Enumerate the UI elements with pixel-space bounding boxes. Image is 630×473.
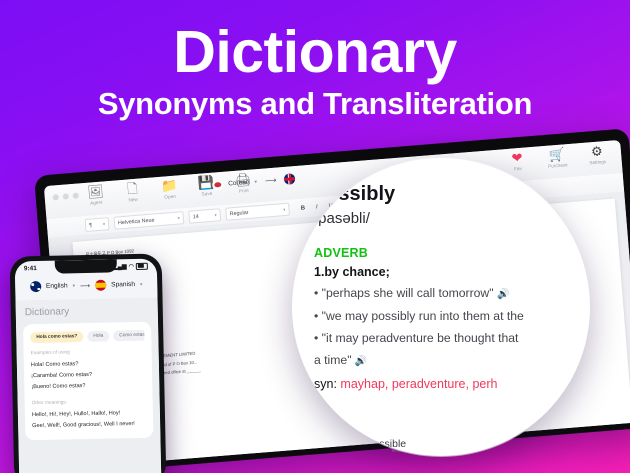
paragraph-icon: ¶ <box>89 222 92 228</box>
toolbar-right-actions: ❤ Fav 🛒 Purchase ⚙ Settings <box>503 144 612 173</box>
wifi-icon: ◠ <box>129 263 134 270</box>
toolbar-label-settings: Settings <box>584 159 612 166</box>
phone-notch <box>55 259 117 273</box>
lens-example-3: "it may peradventure be thought that <box>322 331 519 345</box>
bold-button[interactable]: B <box>298 205 307 212</box>
gear-icon: ⚙ <box>582 144 611 160</box>
bullet-icon-2: • <box>314 309 318 323</box>
lens-synonyms-row: syn: mayhap, peradventure, perh <box>314 377 570 391</box>
page-title: Dictionary <box>0 0 630 82</box>
paragraph-style-select[interactable]: ¶ ▾ <box>85 217 110 232</box>
toolbar-button-purchase[interactable]: 🛒 Purchase <box>542 147 572 169</box>
lens-example-row-3-cont: a time" 🔊 <box>314 352 570 369</box>
chevron-down-icon: ▾ <box>214 212 217 218</box>
chevron-down-icon: ▾ <box>103 221 106 227</box>
font-weight-value: Regular <box>229 209 248 216</box>
hero-header: Dictionary Synonyms and Transliteration <box>0 0 630 121</box>
lens-example-row-2: • "we may possibly run into them at the <box>314 308 570 324</box>
toolbar-label-new: New <box>120 196 146 203</box>
toolbar-label-purchase: Purchase <box>544 162 572 169</box>
toolbar-label-open: Open <box>157 193 183 200</box>
lens-tail-text: degree possible <box>332 438 406 450</box>
phone-screen: 9:41 ▂▄▆ ◠ English ▾ ⟶ Spanish ▾ Diction… <box>15 259 162 473</box>
australia-flag-icon <box>30 281 41 292</box>
lens-example-1: "perhaps she will call tomorrow" <box>322 286 494 300</box>
agent-icon: 🖼 <box>82 184 109 200</box>
lens-example-row-3: • "it may peradventure be thought that <box>314 330 570 346</box>
chevron-down-icon: ▾ <box>177 215 180 221</box>
window-controls[interactable] <box>53 192 79 200</box>
phone-page-title: Dictionary <box>23 298 151 325</box>
toolbar-label-favorite: Fav <box>504 165 532 172</box>
minimize-dot[interactable] <box>63 193 69 199</box>
chip-item-1[interactable]: Hola <box>87 331 109 342</box>
lens-definition: 1.by chance; <box>314 265 570 279</box>
toolbar-label-save: Save <box>194 190 220 197</box>
favorite-icon: ❤ <box>503 150 532 166</box>
status-time: 9:41 <box>24 265 37 272</box>
korea-flag-icon <box>212 179 224 191</box>
chevron-down-icon: ▾ <box>283 206 286 212</box>
speaker-icon-2[interactable]: 🔊 <box>355 356 367 367</box>
phone-result-card: Hola como estas? Hola Como estas Est Exa… <box>23 322 153 440</box>
toolbar-label-agent: Agent <box>83 199 109 206</box>
toolbar-button-favorite[interactable]: ❤ Fav <box>503 150 533 172</box>
lens-example-2: "we may possibly run into them at the <box>322 309 524 323</box>
chevron-down-icon[interactable]: ▾ <box>73 283 76 289</box>
chevron-down-icon-2[interactable]: ▾ <box>140 281 143 287</box>
bullet-icon-3: • <box>314 331 318 345</box>
lens-example-row-1: • "perhaps she will call tomorrow" 🔊 <box>314 285 570 302</box>
toolbar-button-agent[interactable]: 🖼 Agent <box>82 184 110 206</box>
phone-content: Dictionary Hola como estas? Hola Como es… <box>16 298 162 473</box>
status-indicators: ▂▄▆ ◠ <box>113 262 148 270</box>
phone-language-bar[interactable]: English ▾ ⟶ Spanish ▾ <box>15 273 157 301</box>
phone-mockup: 9:41 ▂▄▆ ◠ English ▾ ⟶ Spanish ▾ Diction… <box>10 253 167 473</box>
font-size-select[interactable]: 14 ▾ <box>188 208 221 224</box>
bullet-icon: • <box>314 286 318 300</box>
other-meaning-1: Gee!, Well!, Good gracious!, Well I neve… <box>32 418 146 431</box>
chip-item-0[interactable]: Hola como estas? <box>30 331 83 343</box>
speaker-icon-1[interactable]: 🔊 <box>497 289 509 300</box>
chip-list: Hola como estas? Hola Como estas Est <box>30 330 144 343</box>
toolbar-button-new[interactable]: 🗋 New <box>119 181 147 203</box>
close-dot[interactable] <box>53 194 59 200</box>
other-meanings-label: Other meanings: <box>32 399 146 406</box>
toolbar-button-settings[interactable]: ⚙ Settings <box>582 144 612 166</box>
open-folder-icon: 📁 <box>156 178 183 194</box>
phone-source-language: English <box>46 282 68 289</box>
swap-arrow-icon[interactable]: ⟶ <box>265 176 277 186</box>
font-weight-select[interactable]: Regular ▾ <box>225 203 290 221</box>
chevron-down-icon[interactable]: ▾ <box>254 179 257 185</box>
zoom-dot[interactable] <box>72 192 78 198</box>
font-family-value: Helvetica Neue <box>118 217 155 226</box>
phone-target-language: Spanish <box>111 281 135 288</box>
app-screenshot: Dictionary Synonyms and Transliteration … <box>0 0 630 473</box>
lens-phonetic: /pasəbli/ <box>314 211 570 226</box>
toolbar-button-open[interactable]: 📁 Open <box>156 178 184 200</box>
cart-icon: 🛒 <box>542 147 571 163</box>
chip-item-2[interactable]: Como estas <box>113 330 144 342</box>
example-line-2: ¡Bueno! Como estas? <box>31 380 145 393</box>
lens-part-of-speech: ADVERB <box>314 246 570 260</box>
font-size-value: 14 <box>193 213 199 219</box>
lens-example-3-cont: a time" <box>314 353 352 367</box>
swap-arrow-icon[interactable]: ⟶ <box>80 281 90 289</box>
magnifier-lens: possibly /pasəbli/ ADVERB 1.by chance; •… <box>292 158 590 456</box>
lens-synonyms-label: syn: <box>314 377 337 391</box>
battery-icon <box>136 262 148 269</box>
examples-label: Examples of using <box>31 349 145 356</box>
lens-synonyms: mayhap, peradventure, perh <box>340 377 497 391</box>
new-document-icon: 🗋 <box>119 181 146 197</box>
spain-flag-icon <box>95 280 106 291</box>
uk-flag-icon <box>284 173 296 185</box>
source-language-label: Corean <box>228 179 250 188</box>
italic-button[interactable]: I <box>312 204 321 211</box>
page-subtitle: Synonyms and Transliteration <box>0 82 630 121</box>
